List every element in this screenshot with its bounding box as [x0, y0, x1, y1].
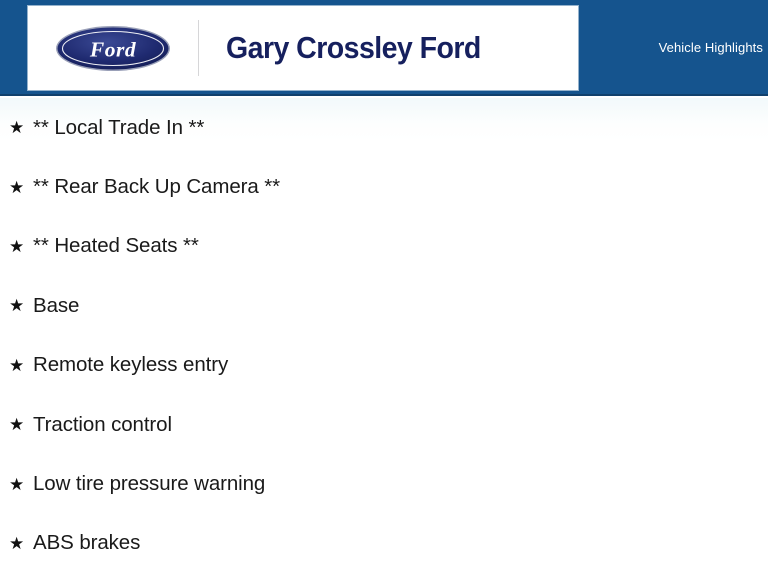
list-item-label: ** Rear Back Up Camera ** [33, 175, 280, 199]
list-item-label: Low tire pressure warning [33, 472, 265, 496]
header-divider [198, 20, 199, 76]
list-item-label: ** Local Trade In ** [33, 116, 204, 140]
section-title: Vehicle Highlights [659, 40, 763, 55]
list-item: ★ ** Heated Seats ** [0, 217, 768, 276]
list-item-label: Remote keyless entry [33, 353, 228, 377]
dealer-brand-card: Ford Gary Crossley Ford [28, 6, 578, 90]
list-item-label: ** Heated Seats ** [33, 234, 199, 258]
star-bullet-icon: ★ [9, 119, 33, 136]
list-item-label: Traction control [33, 413, 172, 437]
star-bullet-icon: ★ [9, 357, 33, 374]
list-item: ★ Traction control [0, 395, 768, 454]
list-item: ★ Base [0, 276, 768, 335]
list-item: ★ Low tire pressure warning [0, 454, 768, 513]
star-bullet-icon: ★ [9, 476, 33, 493]
dealer-name: Gary Crossley Ford [226, 6, 481, 90]
star-bullet-icon: ★ [9, 416, 33, 433]
star-bullet-icon: ★ [9, 238, 33, 255]
list-item: ★ Remote keyless entry [0, 336, 768, 395]
star-bullet-icon: ★ [9, 297, 33, 314]
star-bullet-icon: ★ [9, 535, 33, 552]
list-item-label: Base [33, 294, 79, 318]
list-item: ★ ABS brakes [0, 514, 768, 573]
page-header: Ford Gary Crossley Ford Vehicle Highligh… [0, 0, 768, 96]
list-item: ★ ** Rear Back Up Camera ** [0, 157, 768, 216]
vehicle-highlights-page: Ford Gary Crossley Ford Vehicle Highligh… [0, 0, 768, 576]
list-item: ★ ** Local Trade In ** [0, 98, 768, 157]
star-bullet-icon: ★ [9, 179, 33, 196]
ford-oval-logo-icon: Ford [55, 25, 171, 72]
svg-text:Ford: Ford [89, 38, 137, 62]
list-item-label: ABS brakes [33, 531, 140, 555]
vehicle-highlights-list: ★ ** Local Trade In ** ★ ** Rear Back Up… [0, 98, 768, 576]
